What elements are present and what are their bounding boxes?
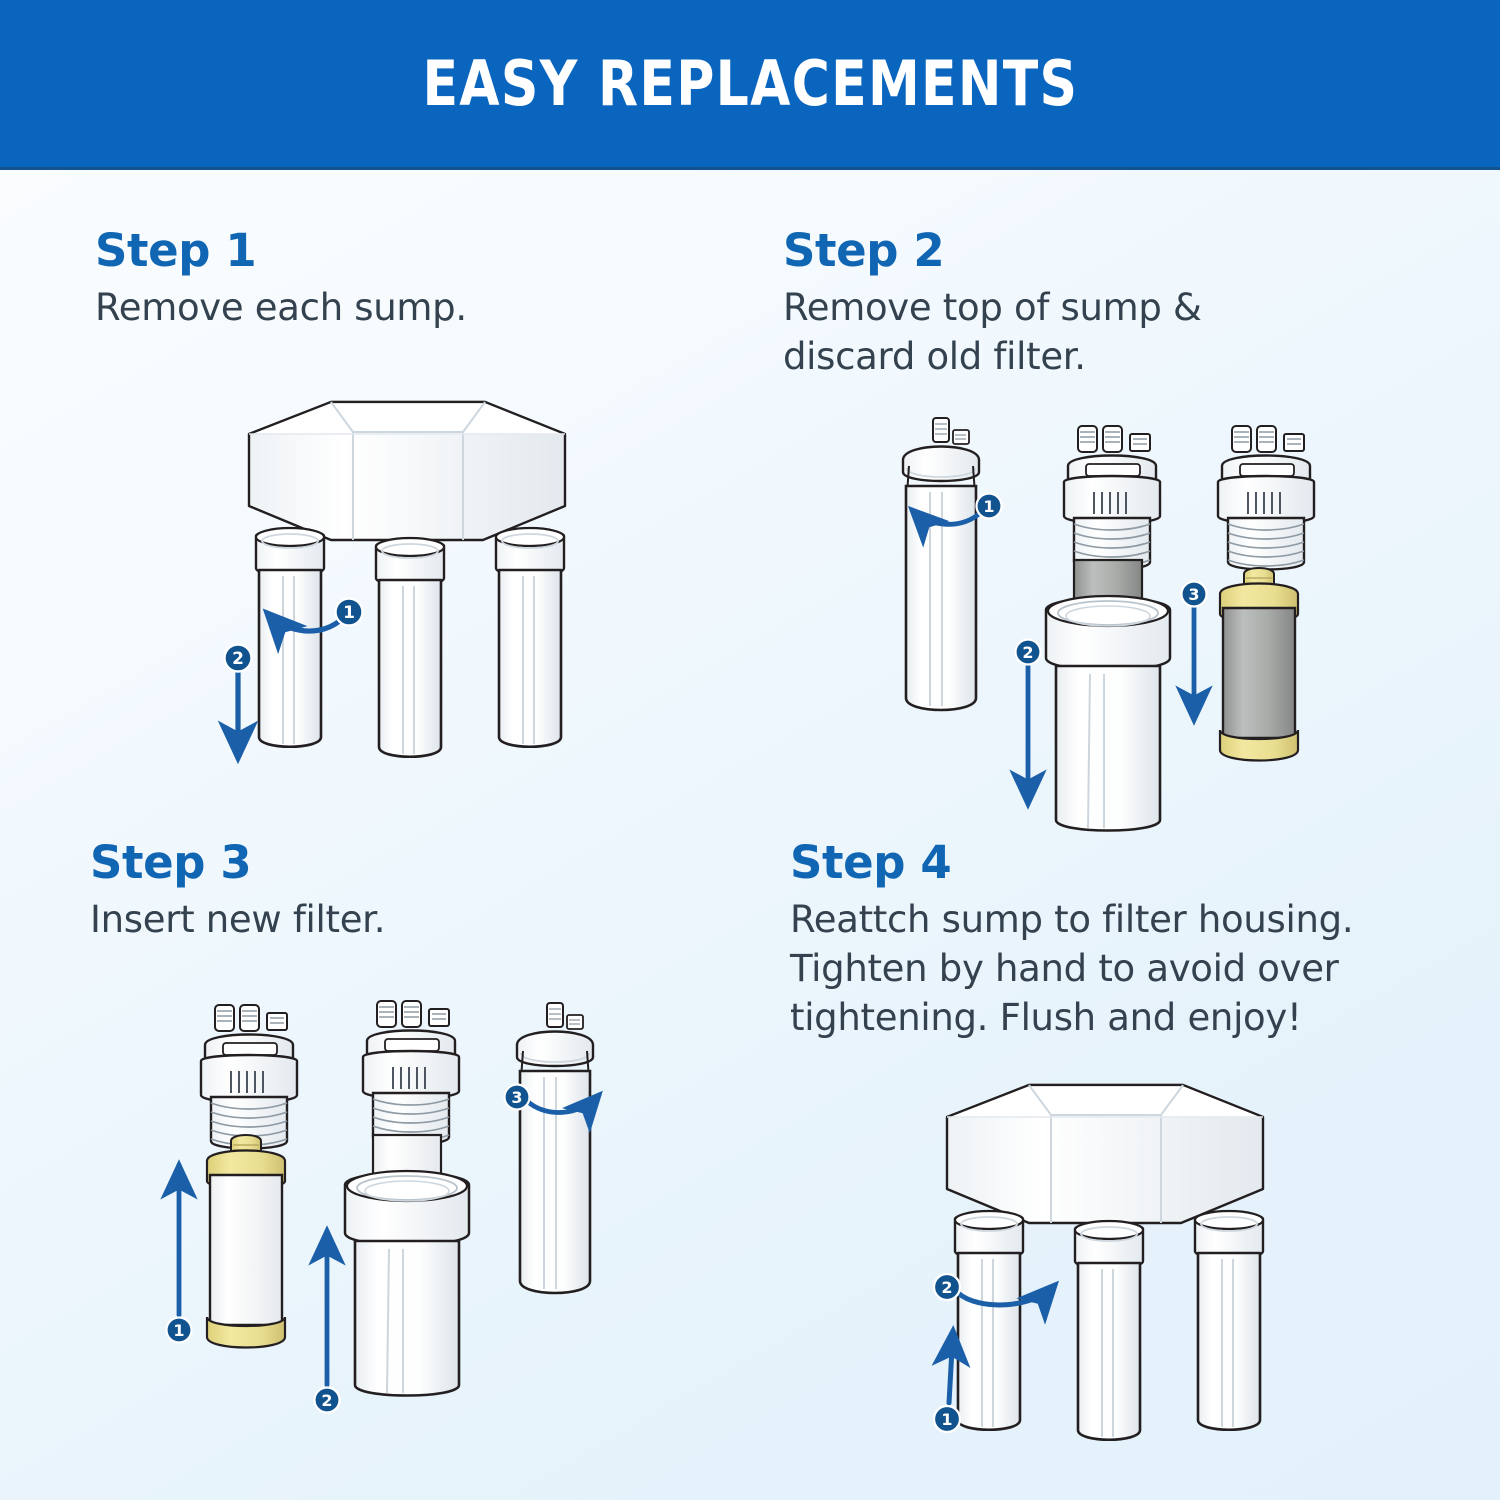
filter-manifold-cap — [249, 402, 565, 540]
step-4-illustration: 2 1 — [905, 1055, 1305, 1475]
step-1-description: Remove each sump. — [95, 283, 715, 332]
step-4-heading: Step 4 — [790, 840, 1470, 887]
step-2-illustration: 1 2 — [878, 408, 1308, 838]
sump-left — [256, 528, 324, 747]
callout-2-down-arrow: 2 — [225, 645, 252, 759]
filter-manifold-cap — [947, 1085, 1263, 1223]
callout-badge-1: 1 — [173, 1321, 184, 1340]
header-banner: EASY REPLACEMENTS — [0, 0, 1500, 170]
callout-badge-3: 3 — [1188, 585, 1199, 604]
step-4-text-block: Step 4 Reattch sump to filter housing. T… — [790, 840, 1470, 1042]
step-1-text-block: Step 1 Remove each sump. — [95, 228, 715, 332]
callout-2-down-arrow: 2 — [1016, 640, 1041, 805]
callout-badge-3: 3 — [511, 1088, 522, 1107]
step-2-heading: Step 2 — [783, 228, 1443, 275]
step-1-illustration: 1 2 — [225, 390, 595, 790]
callout-2-up-arrow: 2 — [315, 1231, 340, 1413]
callout-badge-2: 2 — [941, 1278, 952, 1297]
callout-3-down-arrow: 3 — [1182, 582, 1207, 721]
callout-badge-1: 1 — [941, 1410, 952, 1429]
callout-1-up-arrow: 1 — [934, 1331, 960, 1432]
callout-badge-2: 2 — [232, 649, 244, 669]
old-filter-cartridge — [1220, 568, 1298, 761]
page-title: EASY REPLACEMENTS — [422, 47, 1078, 120]
reassembled-housing — [517, 1003, 593, 1293]
detached-head — [201, 1005, 297, 1149]
callout-badge-2: 2 — [321, 1391, 332, 1410]
step-3-description: Insert new filter. — [90, 895, 710, 944]
cap-separating-from-sump — [1046, 426, 1170, 831]
step-3-heading: Step 3 — [90, 840, 710, 887]
step-2-description: Remove top of sump & discard old filter. — [783, 283, 1443, 381]
sump-right — [496, 528, 564, 747]
infographic-page: EASY REPLACEMENTS — [0, 0, 1500, 1500]
sump-center — [1075, 1221, 1143, 1440]
callout-1-up-arrow: 1 — [167, 1165, 192, 1343]
step-3-text-block: Step 3 Insert new filter. — [90, 840, 710, 944]
detached-head — [1218, 426, 1314, 570]
callout-badge-1: 1 — [343, 603, 355, 623]
callout-badge-1: 1 — [983, 497, 994, 516]
sump-right — [1195, 1211, 1263, 1430]
callout-badge-2: 2 — [1022, 643, 1033, 662]
step-4-description: Reattch sump to filter housing. Tighten … — [790, 895, 1470, 1043]
new-filter-cartridge — [207, 1135, 285, 1348]
step-1-heading: Step 1 — [95, 228, 715, 275]
cartridge-entering-sump — [345, 1001, 469, 1396]
sump-left — [955, 1211, 1023, 1430]
sump-center — [376, 538, 444, 757]
step-3-illustration: 1 2 — [155, 985, 645, 1415]
assembled-housing — [903, 418, 979, 710]
step-2-text-block: Step 2 Remove top of sump & discard old … — [783, 228, 1443, 381]
